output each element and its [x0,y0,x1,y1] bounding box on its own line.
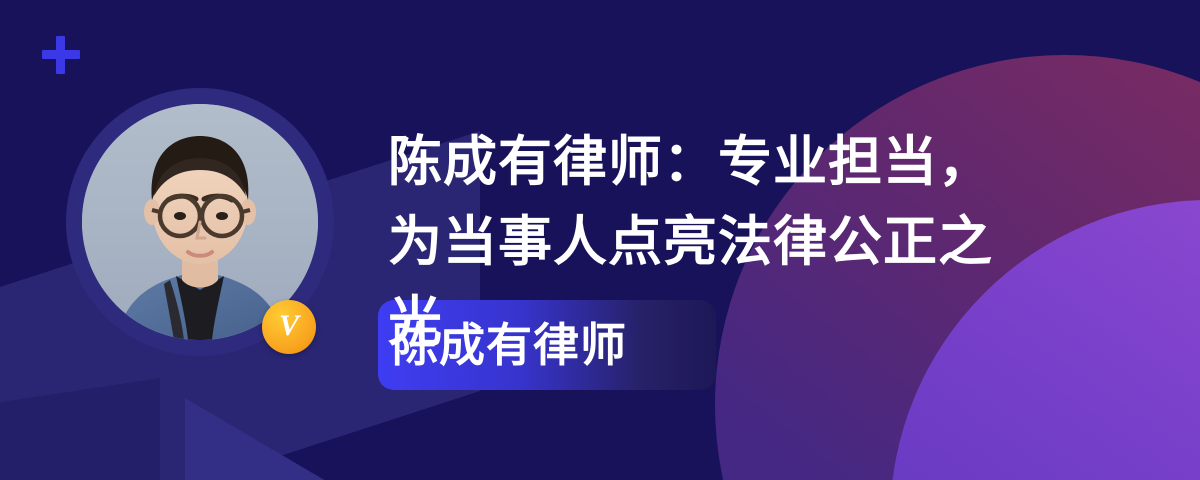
verified-mark: V [279,311,299,341]
verified-badge-icon: V [262,300,316,354]
plus-icon [42,36,80,74]
lawyer-profile-banner: V 陈成有律师：专业担当， 为当事人点亮法律公正之 光 陈成有律师 [0,0,1200,480]
avatar: V [66,88,334,356]
lawyer-name-label: 陈成有律师 [392,310,722,380]
